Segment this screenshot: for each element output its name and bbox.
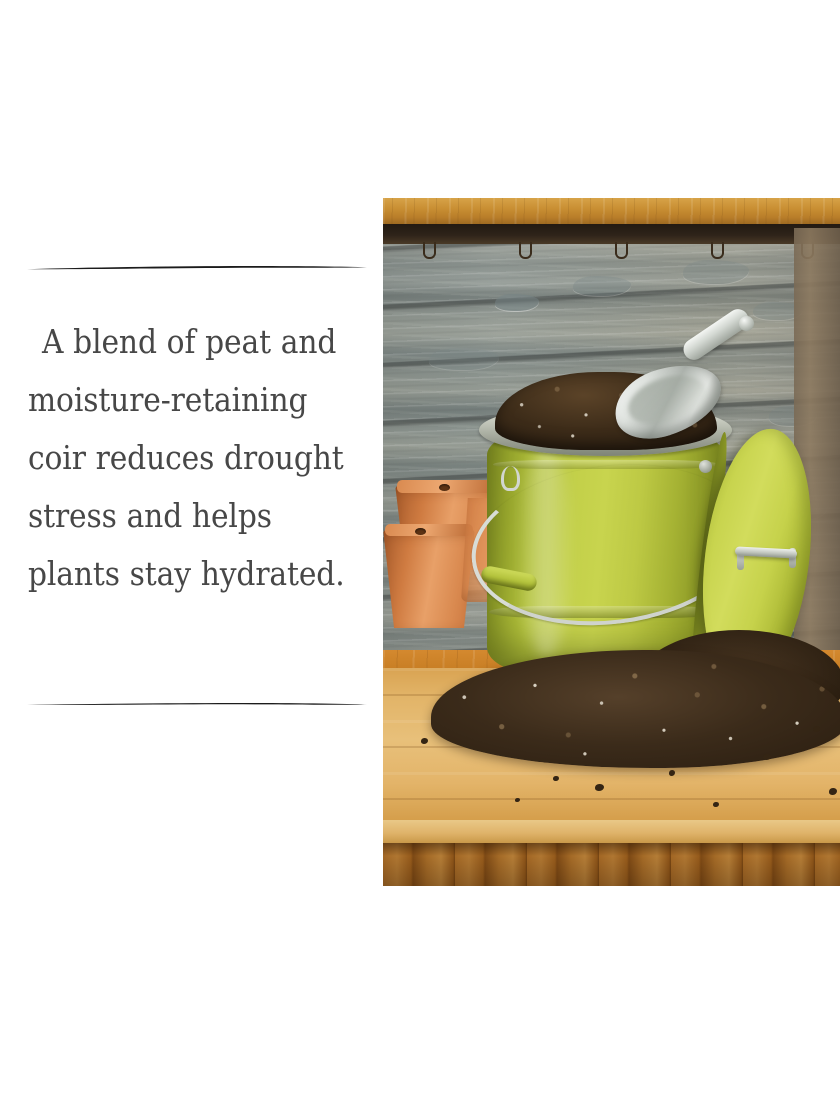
shelf-ledge-grain	[383, 198, 840, 224]
bottom-divider-rule	[26, 702, 368, 708]
product-photo	[383, 198, 840, 886]
bench-apron-shading	[383, 843, 840, 886]
wall-hook-icon	[423, 242, 436, 259]
caption-panel: A blend of peat and moisture-retaining c…	[0, 255, 372, 715]
pail-rivet-right	[699, 460, 712, 473]
terracotta-pot-small-rim	[385, 524, 473, 536]
wall-hook-icon	[519, 242, 532, 259]
pail-handle-ear-left	[501, 466, 520, 491]
shelf-shadow-band	[383, 224, 840, 244]
wall-hook-icon	[615, 242, 628, 259]
terracotta-pot-small-drain-hole	[415, 528, 426, 535]
top-divider-rule	[26, 265, 368, 271]
terracotta-pot-large-drain-hole	[439, 484, 450, 491]
page-caption: A blend of peat and moisture-retaining c…	[28, 313, 368, 603]
wall-hook-icon	[711, 242, 724, 259]
metal-scoop-handle-tip	[739, 316, 754, 331]
page-root: A blend of peat and moisture-retaining c…	[0, 0, 840, 1120]
terracotta-pot-small	[383, 528, 475, 628]
